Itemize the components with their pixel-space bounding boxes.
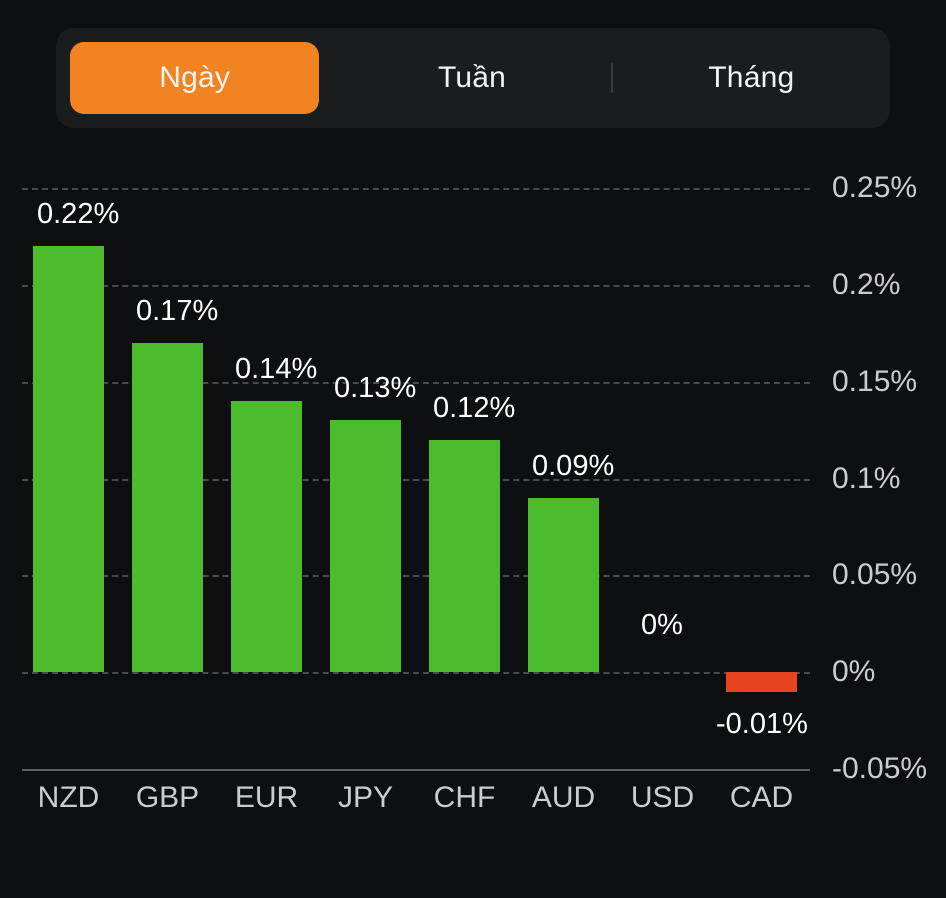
y-axis-tick-label: 0% xyxy=(832,655,875,689)
bar-value-label: 0.12% xyxy=(433,392,515,425)
axis-baseline xyxy=(22,769,810,771)
bar-rect xyxy=(33,246,104,672)
x-axis-label-chf: CHF xyxy=(415,781,514,815)
currency-strength-bar-chart: 0.22%0.17%0.14%0.13%0.12%0.09%0%-0.01% 0… xyxy=(0,150,946,850)
bar-value-label: 0.09% xyxy=(532,450,614,483)
tab-month[interactable]: Tháng xyxy=(613,28,890,128)
bar-usd[interactable]: 0% xyxy=(627,188,698,769)
y-axis-tick-label: 0.1% xyxy=(832,462,900,496)
bar-series: 0.22%0.17%0.14%0.13%0.12%0.09%0%-0.01% xyxy=(22,188,810,769)
bar-chf[interactable]: 0.12% xyxy=(429,188,500,769)
x-axis-label-cad: CAD xyxy=(712,781,811,815)
bar-cad[interactable]: -0.01% xyxy=(726,188,797,769)
bar-value-label: 0.17% xyxy=(136,295,218,328)
currency-strength-screen: Ngày Tuần Tháng 0.22%0.17%0.14%0.13%0.12… xyxy=(0,0,946,898)
bar-rect xyxy=(330,420,401,672)
y-axis-tick-label: -0.05% xyxy=(832,752,927,786)
bar-aud[interactable]: 0.09% xyxy=(528,188,599,769)
x-axis-label-gbp: GBP xyxy=(118,781,217,815)
x-axis-label-nzd: NZD xyxy=(19,781,118,815)
tab-day[interactable]: Ngày xyxy=(56,28,333,128)
x-axis-labels: NZDGBPEURJPYCHFAUDUSDCAD xyxy=(22,781,810,831)
plot-area: 0.22%0.17%0.14%0.13%0.12%0.09%0%-0.01% xyxy=(22,188,810,769)
y-axis-tick-label: 0.15% xyxy=(832,365,917,399)
bar-rect xyxy=(528,498,599,672)
tab-day-label: Ngày xyxy=(159,61,230,95)
y-axis-tick-label: 0.05% xyxy=(832,558,917,592)
bar-rect xyxy=(429,440,500,672)
y-axis-tick-label: 0.2% xyxy=(832,268,900,302)
bar-nzd[interactable]: 0.22% xyxy=(33,188,104,769)
period-segmented-control[interactable]: Ngày Tuần Tháng xyxy=(56,28,890,128)
bar-value-label: 0.14% xyxy=(235,353,317,386)
x-axis-label-jpy: JPY xyxy=(316,781,415,815)
tab-week-label: Tuần xyxy=(438,61,506,95)
tab-week[interactable]: Tuần xyxy=(333,28,610,128)
bar-gbp[interactable]: 0.17% xyxy=(132,188,203,769)
bar-value-label: 0.22% xyxy=(37,198,119,231)
bar-value-label: 0.13% xyxy=(334,372,416,405)
bar-jpy[interactable]: 0.13% xyxy=(330,188,401,769)
bar-value-label: 0% xyxy=(641,609,683,642)
bar-eur[interactable]: 0.14% xyxy=(231,188,302,769)
bar-rect xyxy=(132,343,203,672)
y-axis-tick-label: 0.25% xyxy=(832,171,917,205)
bar-value-label: -0.01% xyxy=(716,708,808,741)
x-axis-label-eur: EUR xyxy=(217,781,316,815)
bar-rect xyxy=(231,401,302,672)
tab-month-label: Tháng xyxy=(708,61,794,95)
x-axis-label-aud: AUD xyxy=(514,781,613,815)
bar-rect xyxy=(726,672,797,691)
x-axis-label-usd: USD xyxy=(613,781,712,815)
